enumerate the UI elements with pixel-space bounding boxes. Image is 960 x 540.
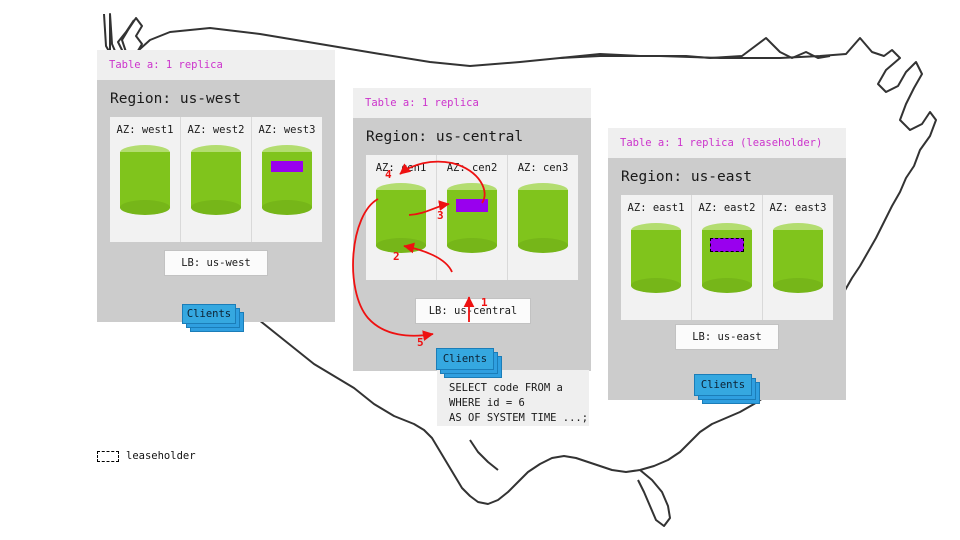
region-header-label: Table a: 1 replica — [365, 97, 479, 109]
node-cylinder-cen1[interactable] — [376, 183, 426, 253]
region-body-us-east: Region: us-east AZ: east1 AZ: east2 — [608, 158, 846, 400]
clients-label[interactable]: Clients — [694, 374, 752, 396]
az-west2[interactable]: AZ: west2 — [181, 117, 252, 242]
az-east3[interactable]: AZ: east3 — [763, 195, 833, 320]
az-label: AZ: west3 — [259, 124, 316, 136]
load-balancer-us-west[interactable]: LB: us-west — [164, 250, 268, 276]
region-panel-us-central: Table a: 1 replica Region: us-central AZ… — [353, 88, 591, 371]
sql-query-box: SELECT code FROM a WHERE id = 6 AS OF SY… — [437, 370, 589, 426]
clients-us-west[interactable]: Clients — [182, 304, 244, 332]
flow-step-label-4: 4 — [385, 168, 392, 181]
replica-marker-cen2[interactable] — [456, 199, 488, 212]
node-cylinder-west1[interactable] — [120, 145, 170, 215]
legend-label: leaseholder — [126, 450, 196, 462]
flow-step-label-1: 1 — [481, 296, 488, 309]
cylinder-bottom — [120, 200, 170, 215]
region-header-us-west: Table a: 1 replica — [97, 50, 335, 80]
az-label: AZ: cen3 — [518, 162, 569, 174]
region-title: Region: us-west — [110, 91, 241, 107]
flow-step-label-3: 3 — [437, 209, 444, 222]
replica-marker-leaseholder-east2[interactable] — [710, 238, 744, 252]
node-cylinder-east1[interactable] — [631, 223, 681, 293]
node-cylinder-east3[interactable] — [773, 223, 823, 293]
az-west1[interactable]: AZ: west1 — [110, 117, 181, 242]
region-header-us-central: Table a: 1 replica — [353, 88, 591, 118]
az-east2[interactable]: AZ: east2 — [692, 195, 763, 320]
az-label: AZ: cen1 — [376, 162, 427, 174]
region-header-label: Table a: 1 replica (leaseholder) — [620, 137, 822, 149]
flow-step-label-2: 2 — [393, 250, 400, 263]
az-label: AZ: east1 — [628, 202, 685, 214]
cylinder-bottom — [702, 278, 752, 293]
cylinder-bottom — [447, 238, 497, 253]
load-balancer-us-central[interactable]: LB: us-central — [415, 298, 531, 324]
region-body-us-central: Region: us-central AZ: cen1 AZ: cen2 — [353, 118, 591, 371]
az-label: AZ: cen2 — [447, 162, 498, 174]
node-cylinder-east2[interactable] — [702, 223, 752, 293]
region-header-label: Table a: 1 replica — [109, 59, 223, 71]
leaseholder-swatch-icon — [97, 451, 119, 462]
az-strip-us-east: AZ: east1 AZ: east2 — [621, 195, 833, 320]
clients-label[interactable]: Clients — [436, 348, 494, 370]
replica-marker-west3[interactable] — [271, 161, 303, 172]
node-cylinder-west2[interactable] — [191, 145, 241, 215]
az-cen1[interactable]: AZ: cen1 — [366, 155, 437, 280]
node-cylinder-cen3[interactable] — [518, 183, 568, 253]
cylinder-bottom — [376, 238, 426, 253]
clients-us-central[interactable]: Clients — [436, 348, 502, 378]
region-body-us-west: Region: us-west AZ: west1 AZ: west2 — [97, 80, 335, 322]
clients-label[interactable]: Clients — [182, 304, 236, 324]
cylinder-bottom — [773, 278, 823, 293]
load-balancer-us-east[interactable]: LB: us-east — [675, 324, 779, 350]
region-panel-us-east: Table a: 1 replica (leaseholder) Region:… — [608, 128, 846, 400]
az-cen3[interactable]: AZ: cen3 — [508, 155, 578, 280]
node-cylinder-west3[interactable] — [262, 145, 312, 215]
cylinder-bottom — [262, 200, 312, 215]
az-label: AZ: east2 — [699, 202, 756, 214]
az-label: AZ: east3 — [770, 202, 827, 214]
az-east1[interactable]: AZ: east1 — [621, 195, 692, 320]
clients-us-east[interactable]: Clients — [694, 374, 760, 404]
diagram-canvas: Table a: 1 replica Region: us-west AZ: w… — [0, 0, 960, 540]
region-title: Region: us-central — [366, 129, 523, 145]
az-label: AZ: west1 — [117, 124, 174, 136]
region-panel-us-west: Table a: 1 replica Region: us-west AZ: w… — [97, 50, 335, 322]
flow-step-label-5: 5 — [417, 336, 424, 349]
region-header-us-east: Table a: 1 replica (leaseholder) — [608, 128, 846, 158]
node-cylinder-cen2[interactable] — [447, 183, 497, 253]
cylinder-bottom — [631, 278, 681, 293]
az-cen2[interactable]: AZ: cen2 — [437, 155, 508, 280]
az-west3[interactable]: AZ: west3 — [252, 117, 322, 242]
cylinder-bottom — [191, 200, 241, 215]
cylinder-bottom — [518, 238, 568, 253]
az-strip-us-west: AZ: west1 AZ: west2 AZ — [110, 117, 322, 242]
legend-leaseholder: leaseholder — [97, 450, 196, 462]
region-title: Region: us-east — [621, 169, 752, 185]
az-label: AZ: west2 — [188, 124, 245, 136]
